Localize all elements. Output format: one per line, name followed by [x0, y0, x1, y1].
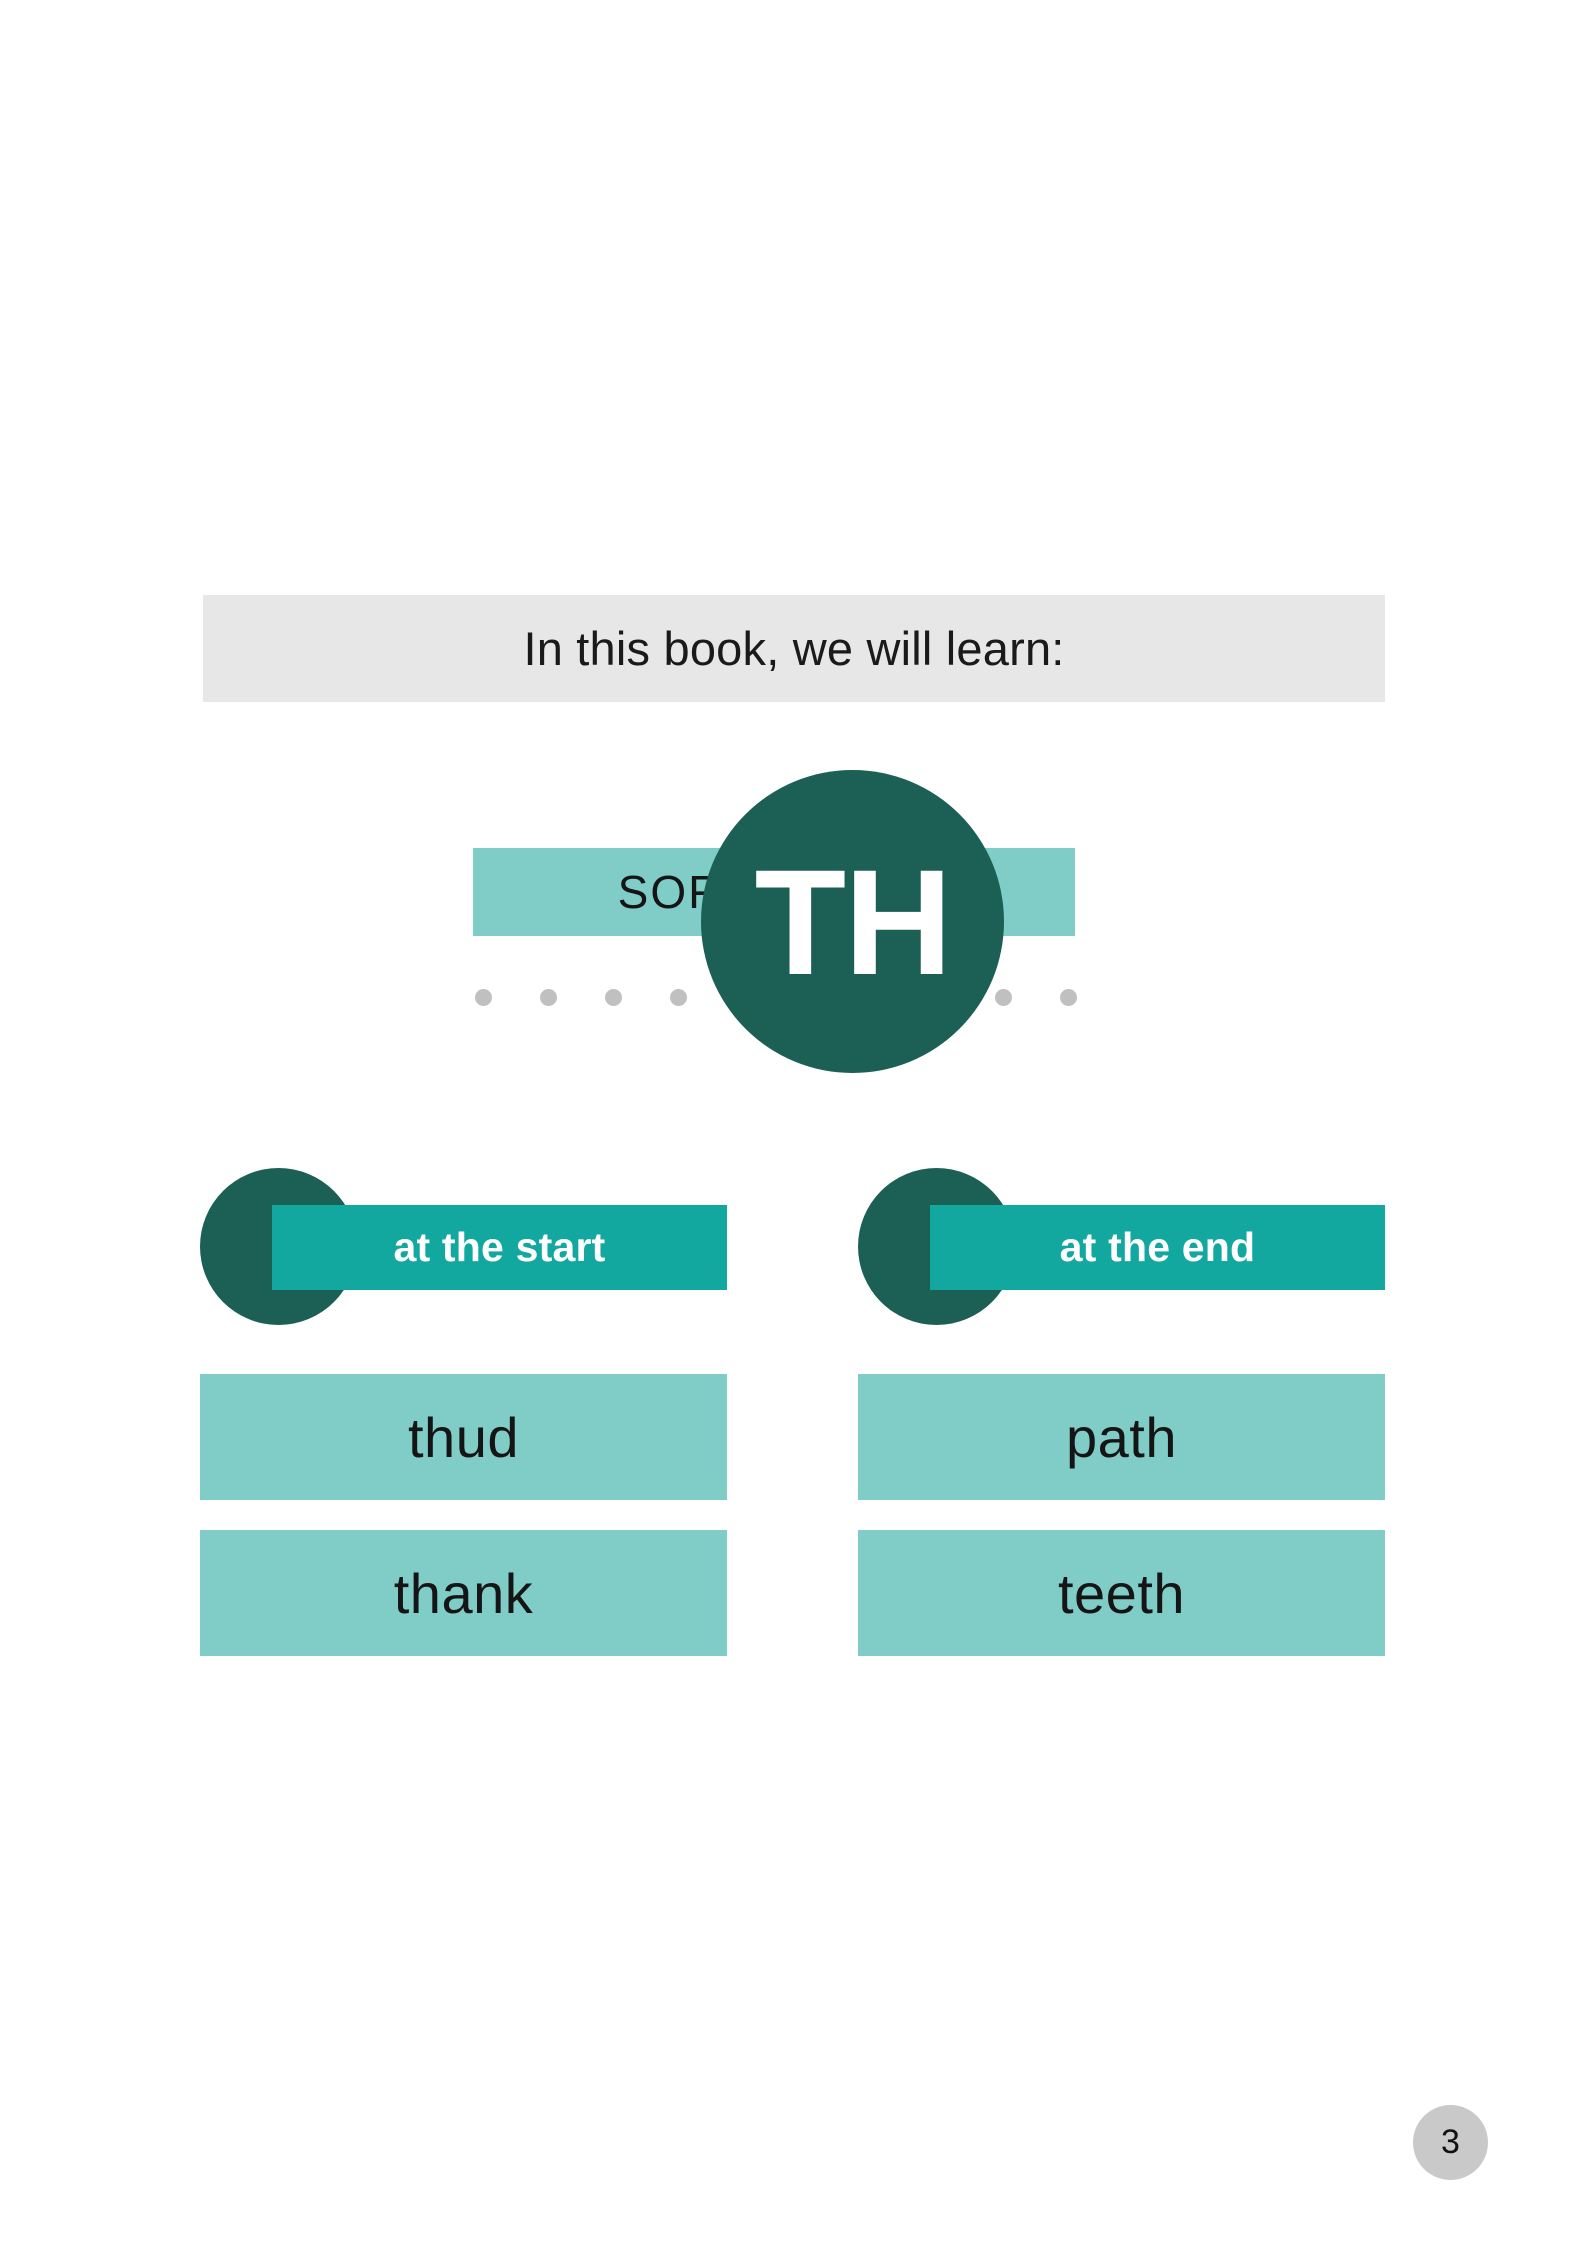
badge-bar-start: at the start	[272, 1205, 727, 1290]
badge-label-start: at the start	[393, 1224, 605, 1271]
worksheet-page: In this book, we will learn: SOFT TH at …	[0, 0, 1587, 2245]
word-list-start: thud thank	[200, 1374, 727, 1686]
digraph-circle: TH	[701, 770, 1004, 1073]
word-box: thud	[200, 1374, 727, 1500]
dot-icon	[475, 989, 492, 1006]
word-label: teeth	[1058, 1561, 1185, 1626]
position-badge-start: at the start	[200, 1160, 727, 1328]
page-number-label: 3	[1441, 2123, 1460, 2162]
word-box: teeth	[858, 1530, 1385, 1656]
dot-icon	[995, 989, 1012, 1006]
dot-icon	[540, 989, 557, 1006]
word-list-end: path teeth	[858, 1374, 1385, 1686]
word-label: thank	[394, 1561, 534, 1626]
badge-label-end: at the end	[1060, 1224, 1256, 1271]
word-box: thank	[200, 1530, 727, 1656]
dot-icon	[1060, 989, 1077, 1006]
position-column-end: at the end path teeth	[858, 1160, 1385, 1328]
word-label: path	[1066, 1405, 1177, 1470]
badge-bar-end: at the end	[930, 1205, 1385, 1290]
header-band: In this book, we will learn:	[203, 595, 1385, 702]
page-title: In this book, we will learn:	[523, 621, 1064, 676]
sound-banner: SOFT TH	[473, 760, 1087, 1085]
position-badge-end: at the end	[858, 1160, 1385, 1328]
word-label: thud	[408, 1405, 519, 1470]
digraph-label: TH	[755, 847, 951, 997]
word-box: path	[858, 1374, 1385, 1500]
dot-icon	[605, 989, 622, 1006]
position-column-start: at the start thud thank	[200, 1160, 727, 1328]
page-number-badge: 3	[1413, 2105, 1488, 2180]
dot-icon	[670, 989, 687, 1006]
